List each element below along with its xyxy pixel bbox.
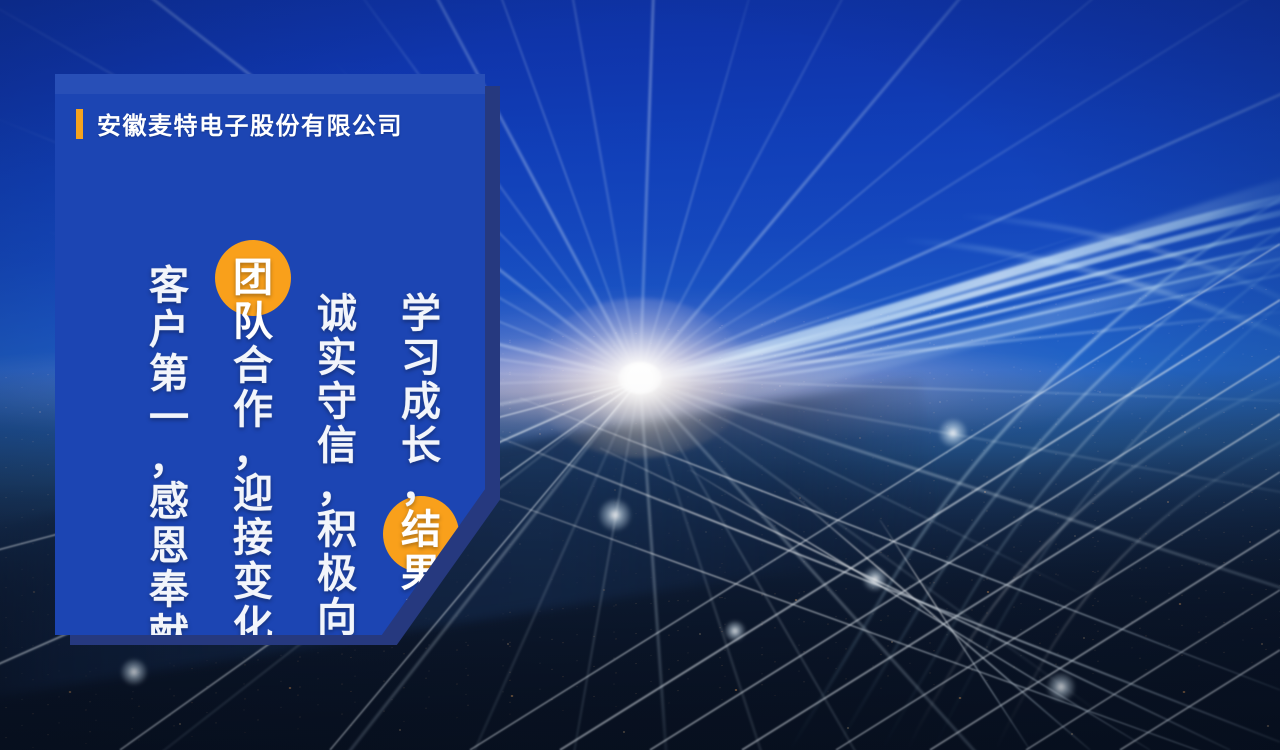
panel-title-row: 安徽麦特电子股份有限公司 bbox=[76, 106, 403, 141]
slogan-comma: ， bbox=[317, 468, 357, 508]
slogan-char: 实 bbox=[317, 336, 357, 380]
slogan-char: 学 bbox=[401, 292, 441, 336]
slogan-char: 结 bbox=[401, 508, 441, 552]
title-accent-bar bbox=[76, 109, 83, 139]
slogan-char: 向 bbox=[317, 596, 357, 640]
slogan-char: 第 bbox=[149, 352, 189, 396]
slogan-char: 接 bbox=[233, 516, 273, 560]
culture-panel: 安徽麦特电子股份有限公司 客户第一，感恩奉献团队合作，迎接变化诚实守信，积极向上… bbox=[55, 74, 485, 635]
slogan-char: 队 bbox=[233, 300, 273, 344]
panel-top-band bbox=[55, 74, 485, 94]
page-title: 安徽麦特电子股份有限公司 bbox=[97, 106, 403, 141]
slogan-char: 团 bbox=[233, 256, 273, 300]
slogan-comma: ， bbox=[401, 468, 441, 508]
slogan-char: 客 bbox=[149, 264, 189, 308]
slogan-comma: ， bbox=[149, 440, 189, 480]
slogan-char: 奉 bbox=[149, 568, 189, 612]
slogan-char: 变 bbox=[233, 560, 273, 604]
slogan-char: 积 bbox=[317, 508, 357, 552]
slogan-char: 作 bbox=[233, 388, 273, 432]
slogan-char: 一 bbox=[149, 396, 189, 440]
slogan-char: 极 bbox=[317, 552, 357, 596]
slogan-char: 诚 bbox=[317, 292, 357, 336]
slogan-char: 长 bbox=[401, 424, 441, 468]
slogan-char: 感 bbox=[149, 480, 189, 524]
slogan-char: 合 bbox=[233, 344, 273, 388]
slogan-char: 恩 bbox=[149, 524, 189, 568]
slogan-char: 成 bbox=[401, 380, 441, 424]
slogan-char: 守 bbox=[317, 380, 357, 424]
banner-stage: 安徽麦特电子股份有限公司 客户第一，感恩奉献团队合作，迎接变化诚实守信，积极向上… bbox=[0, 0, 1280, 750]
slogan-char: 迎 bbox=[233, 472, 273, 516]
slogan-char: 信 bbox=[317, 424, 357, 468]
slogan-char: 习 bbox=[401, 336, 441, 380]
slogan-char: 户 bbox=[149, 308, 189, 352]
slogan-comma: ， bbox=[233, 432, 273, 472]
